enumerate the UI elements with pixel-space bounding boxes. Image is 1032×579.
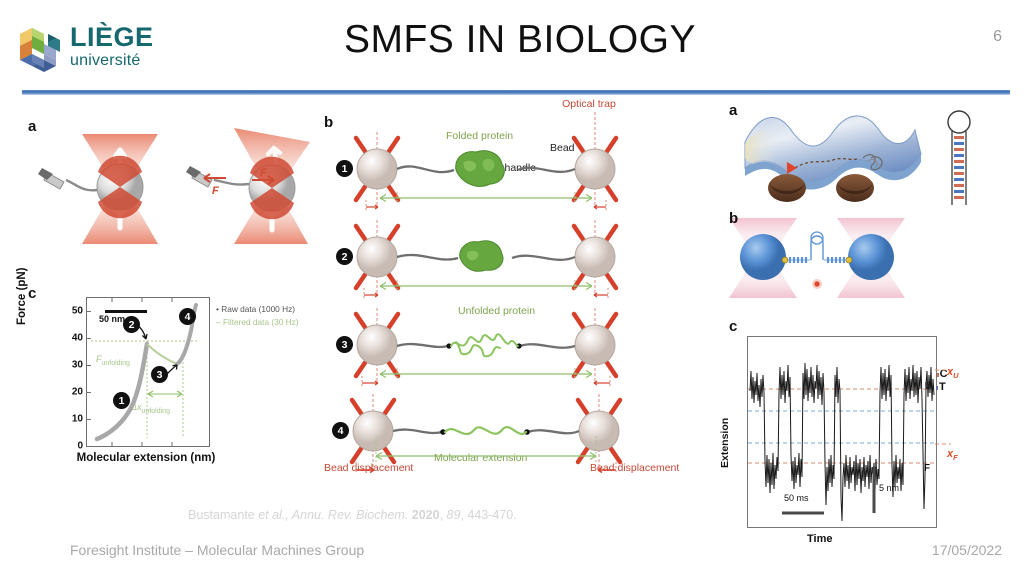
left-column: a bbox=[20, 100, 315, 500]
figure-panel-c-force-extension-chart: c Force (pN) 01020304050 50 nm Funfoldin… bbox=[20, 285, 320, 485]
slide-canvas: LIÈGE université SMFS IN BIOLOGY 6 a bbox=[0, 0, 1032, 579]
dual-trap-hairpin-diagram bbox=[715, 200, 1015, 315]
right-column: a bbox=[715, 100, 1015, 555]
legend-dash-marker: – bbox=[216, 317, 221, 327]
source-citation: Bustamante et al., Annu. Rev. Biochem. 2… bbox=[188, 508, 517, 522]
trace-plot-area: U F 50 ms 5 nm bbox=[747, 336, 937, 528]
trace-scalebar-distance-label: 5 nm bbox=[879, 483, 899, 493]
footer-organization: Foresight Institute – Molecular Machines… bbox=[70, 542, 364, 558]
stage-badge-3: 3 bbox=[336, 336, 353, 353]
right-panel-a-letter: a bbox=[729, 102, 737, 119]
force-label-right: F bbox=[260, 167, 267, 179]
logo-wordmark: LIÈGE université bbox=[70, 24, 154, 69]
state-label-unfolded: U bbox=[925, 381, 932, 392]
slide-number: 6 bbox=[993, 28, 1002, 46]
page-title: SMFS IN BIOLOGY bbox=[250, 18, 790, 62]
chart-x-axis-label: Molecular extension (nm) bbox=[66, 451, 226, 465]
chart-y-tick-50: 50 bbox=[72, 306, 83, 317]
chart-y-tick-20: 20 bbox=[72, 387, 83, 398]
chart-legend-item-filtered: – Filtered data (30 Hz) bbox=[216, 316, 299, 329]
chart-marker-4: 4 bbox=[179, 308, 196, 325]
smfs-stage-diagram bbox=[322, 100, 667, 500]
figure-right-panel-c-extension-trace: c Extension Time U F bbox=[715, 318, 1015, 558]
chart-y-tick-10: 10 bbox=[72, 414, 83, 425]
chart-legend-item-raw: • Raw data (1000 Hz) bbox=[216, 303, 299, 316]
state-label-folded: F bbox=[924, 463, 930, 474]
figure-panel-b-smfs-stages: b Optical trap Folded protein Bead DNA h… bbox=[322, 100, 667, 500]
chart-marker-1: 1 bbox=[113, 392, 130, 409]
chart-marker-3: 3 bbox=[151, 366, 168, 383]
stage-badge-1: 1 bbox=[336, 160, 353, 177]
right-panel-b-letter: b bbox=[729, 210, 738, 227]
trace-x-axis-label: Time bbox=[807, 533, 832, 545]
right-panel-c-letter: c bbox=[729, 318, 737, 335]
level-extension-lines bbox=[935, 336, 975, 456]
footer-date: 17/05/2022 bbox=[932, 542, 1002, 558]
figure-panel-a-optical-trap: a bbox=[20, 110, 315, 275]
legend-dot-marker: • bbox=[216, 304, 219, 314]
hopping-trace bbox=[748, 337, 936, 527]
stage-badge-4: 4 bbox=[332, 422, 349, 439]
chart-marker-2: 2 bbox=[123, 316, 140, 333]
panel-c-letter: c bbox=[28, 285, 36, 302]
chart-y-tick-0: 0 bbox=[77, 441, 83, 452]
force-label-left: F bbox=[212, 185, 219, 197]
chart-plot-area: 01020304050 50 nm Funfolding Δxunfolding bbox=[86, 297, 210, 447]
panel-a-letter: a bbox=[28, 118, 36, 135]
logo-liege-text: LIÈGE bbox=[70, 24, 154, 51]
chart-legend: • Raw data (1000 Hz) – Filtered data (30… bbox=[216, 303, 299, 329]
logo-universite-text: université bbox=[70, 53, 154, 69]
optical-trap-diagram: F F bbox=[20, 110, 315, 275]
trace-y-axis-label: Extension bbox=[719, 418, 731, 468]
header-divider bbox=[22, 90, 1010, 95]
figure-right-panel-b-dual-trap: b bbox=[715, 200, 1015, 315]
chart-y-tickmark-0 bbox=[87, 446, 91, 447]
chart-y-tick-40: 40 bbox=[72, 333, 83, 344]
stage-badge-2: 2 bbox=[336, 248, 353, 265]
chart-y-tick-30: 30 bbox=[72, 360, 83, 371]
chart-y-axis-label: Force (pN) bbox=[16, 268, 28, 326]
figure-right-panel-a-energy-landscape: a bbox=[715, 100, 1015, 205]
trace-scalebar-time-label: 50 ms bbox=[784, 493, 809, 503]
energy-landscape-surface bbox=[715, 100, 1015, 205]
universite-de-liege-logo bbox=[12, 20, 68, 76]
